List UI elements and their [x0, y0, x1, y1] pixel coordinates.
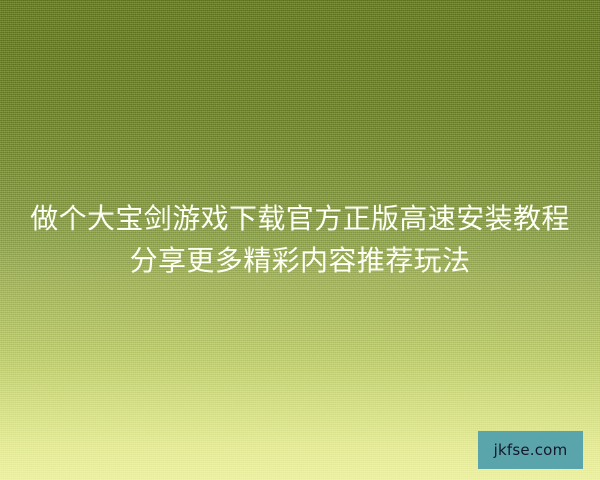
promo-banner: 做个大宝剑游戏下载官方正版高速安装教程分享更多精彩内容推荐玩法 jkfse.co… — [0, 0, 600, 480]
watermark-label: jkfse.com — [494, 443, 568, 458]
site-watermark-badge: jkfse.com — [478, 431, 583, 469]
headline-text: 做个大宝剑游戏下载官方正版高速安装教程分享更多精彩内容推荐玩法 — [0, 198, 600, 282]
